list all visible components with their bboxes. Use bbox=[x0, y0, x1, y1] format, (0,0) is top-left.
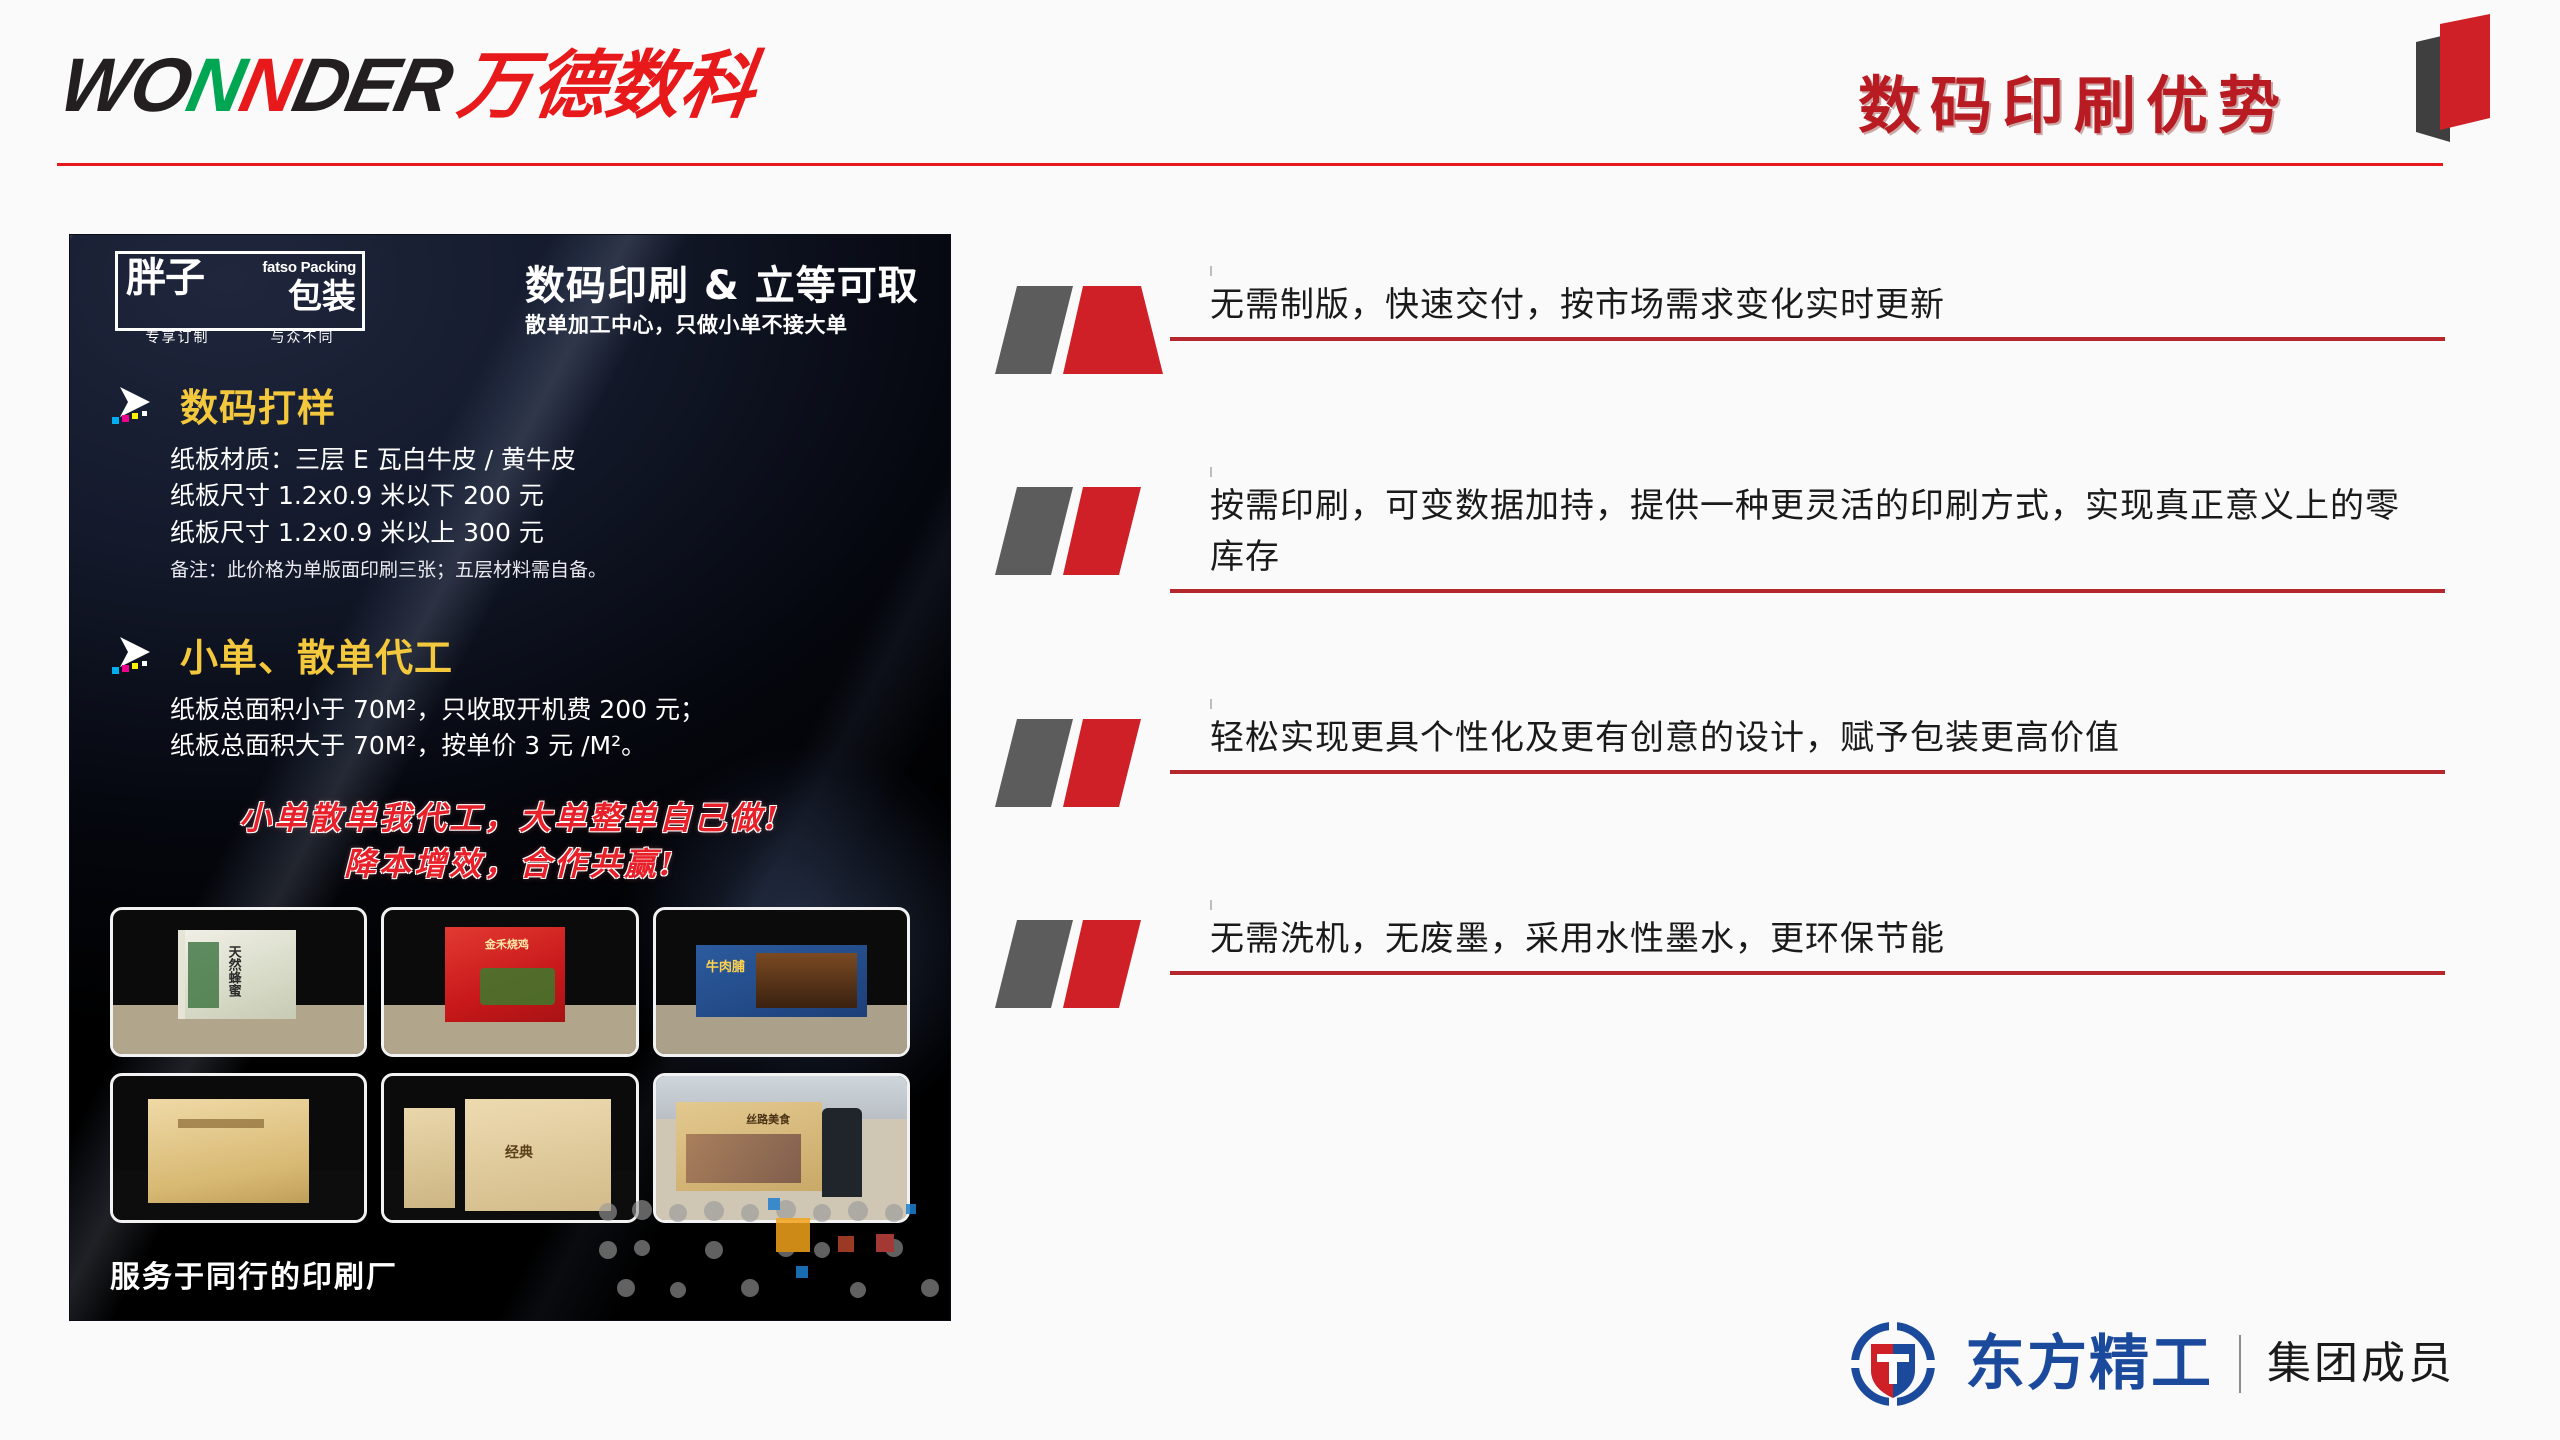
bullet-tick bbox=[1210, 900, 1212, 910]
wonder-wordmark: WONNDER bbox=[54, 48, 457, 124]
photo-box-side bbox=[404, 1108, 454, 1209]
poster-headline: 数码印刷 & 立等可取 bbox=[525, 253, 919, 311]
corporate-divider bbox=[2239, 1335, 2241, 1393]
header-divider bbox=[57, 163, 2443, 166]
fatso-packing-logo: 胖子 fatso Packing 包装 bbox=[115, 251, 365, 331]
photo-person bbox=[822, 1108, 862, 1197]
bullet-tick bbox=[1210, 699, 1212, 709]
photo-caption: 金禾烧鸡 bbox=[485, 936, 529, 952]
wonder-chinese-name: 万德数科 bbox=[454, 49, 760, 123]
double-chevron-marker-icon bbox=[995, 713, 1170, 813]
poster-subheadline: 散单加工中心，只做小单不接大单 bbox=[525, 309, 848, 339]
corporate-logo: 东方精工 集团成员 bbox=[1847, 1318, 2455, 1410]
section-2-lines: 纸板总面积小于 70M²，只收取开机费 200 元； 纸板总面积大于 70M²，… bbox=[170, 692, 910, 765]
bullet-underline bbox=[1170, 770, 2445, 774]
section-2-title-row: 小单、散单代工 bbox=[110, 627, 910, 682]
product-photo-grid: 天然蜂蜜 金禾烧鸡 牛肉脯 bbox=[110, 907, 910, 1223]
fatso-logo-en: fatso Packing bbox=[262, 259, 356, 276]
photo-box-art bbox=[686, 1134, 802, 1183]
photo-box-art bbox=[756, 953, 857, 1008]
section-1-line-2: 纸板尺寸 1.2x0.9 米以下 200 元 bbox=[170, 478, 910, 514]
dongfang-emblem-icon bbox=[1847, 1318, 1939, 1410]
wordmark-part-2: DER bbox=[286, 43, 459, 128]
advantages-list: 无需制版，快速交付，按市场需求变化实时更新 按需印刷，可变数据加持，提供一种更灵… bbox=[995, 280, 2445, 975]
bullet-underline bbox=[1170, 589, 2445, 593]
fatso-logo-cn-top: 胖子 bbox=[126, 258, 204, 298]
bullet-personalized-design: 轻松实现更具个性化及更有创意的设计，赋予包装更高价值 bbox=[995, 713, 2445, 774]
double-chevron-marker-icon bbox=[995, 914, 1170, 1014]
bullet-tick bbox=[1210, 266, 1212, 276]
slogan-line-2: 降本增效，合作共赢! bbox=[70, 841, 950, 887]
bullet-no-plate-making: 无需制版，快速交付，按市场需求变化实时更新 bbox=[995, 280, 2445, 341]
poster-slogan: 小单散单我代工，大单整单自己做! 降本增效，合作共赢! bbox=[70, 795, 950, 888]
fatso-logo-cn-bottom: 包装 bbox=[288, 280, 356, 314]
bullet-text: 无需洗机，无废墨，采用水性墨水，更环保节能 bbox=[1210, 914, 2445, 971]
bullet-text: 轻松实现更具个性化及更有创意的设计，赋予包装更高价值 bbox=[1210, 713, 2445, 770]
wordmark-part-1: WO bbox=[53, 43, 198, 128]
slogan-line-1: 小单散单我代工，大单整单自己做! bbox=[70, 795, 950, 841]
section-1-title: 数码打样 bbox=[180, 377, 336, 432]
wonder-logo: WONNDER 万德数科 bbox=[62, 48, 755, 124]
photo-box-art bbox=[178, 1119, 263, 1128]
bullet-eco-friendly: 无需洗机，无废墨，采用水性墨水，更环保节能 bbox=[995, 914, 2445, 975]
section-1-lines: 纸板材质：三层 E 瓦白牛皮 / 黄牛皮 纸板尺寸 1.2x0.9 米以下 20… bbox=[170, 442, 910, 582]
product-photo-braised-meat-box: 金禾烧鸡 bbox=[381, 907, 638, 1057]
slide-root: WONNDER 万德数科 数码印刷优势 胖子 fatso Packing 包装 … bbox=[0, 0, 2560, 1440]
section-1-line-1: 纸板材质：三层 E 瓦白牛皮 / 黄牛皮 bbox=[170, 442, 910, 478]
halftone-dots-decoration bbox=[590, 1190, 950, 1320]
tagline-right: 与众不同 bbox=[271, 327, 335, 347]
bullet-text: 无需制版，快速交付，按市场需求变化实时更新 bbox=[1210, 280, 2445, 337]
page-title: 数码印刷优势 bbox=[1858, 55, 2290, 145]
bullet-text: 按需印刷，可变数据加持，提供一种更灵活的印刷方式，实现真正意义上的零库存 bbox=[1210, 481, 2400, 589]
poster-section-digital-proofing: 数码打样 纸板材质：三层 E 瓦白牛皮 / 黄牛皮 纸板尺寸 1.2x0.9 米… bbox=[110, 377, 910, 582]
tagline-left: 专享订制 bbox=[146, 327, 210, 347]
photo-caption: 牛肉脯 bbox=[706, 956, 745, 975]
bullet-tick bbox=[1210, 467, 1212, 477]
photo-box-art bbox=[480, 968, 555, 1005]
corporate-member-label: 集团成员 bbox=[2267, 1342, 2455, 1386]
photo-caption: 经典 bbox=[505, 1142, 533, 1162]
bullet-underline bbox=[1170, 971, 2445, 975]
bullet-on-demand-printing: 按需印刷，可变数据加持，提供一种更灵活的印刷方式，实现真正意义上的零库存 bbox=[995, 481, 2445, 593]
section-2-title: 小单、散单代工 bbox=[180, 627, 453, 682]
section-1-line-3: 纸板尺寸 1.2x0.9 米以上 300 元 bbox=[170, 515, 910, 551]
poster-section-small-order-oem: 小单、散单代工 纸板总面积小于 70M²，只收取开机费 200 元； 纸板总面积… bbox=[110, 627, 910, 765]
section-1-note: 备注：此价格为单版面印刷三张；五层材料需自备。 bbox=[170, 555, 910, 582]
product-photo-kraft-carton bbox=[110, 1073, 367, 1223]
corporate-name: 东方精工 bbox=[1965, 1334, 2213, 1394]
promo-poster: 胖子 fatso Packing 包装 专享订制 与众不同 数码印刷 & 立等可… bbox=[70, 235, 950, 1320]
photo-box bbox=[148, 1099, 309, 1203]
section-2-line-1: 纸板总面积小于 70M²，只收取开机费 200 元； bbox=[170, 692, 910, 728]
section-1-title-row: 数码打样 bbox=[110, 377, 910, 432]
section-2-line-2: 纸板总面积大于 70M²，按单价 3 元 /M²。 bbox=[170, 728, 910, 764]
photo-caption: 天然蜂蜜 bbox=[224, 945, 243, 997]
poster-footer-text: 服务于同行的印刷厂 bbox=[110, 1252, 398, 1296]
product-photo-beef-carton: 牛肉脯 bbox=[653, 907, 910, 1057]
photo-box bbox=[465, 1099, 611, 1211]
bullet-underline bbox=[1170, 337, 2445, 341]
double-chevron-marker-icon bbox=[995, 481, 1170, 581]
arrow-cmyk-icon bbox=[110, 633, 166, 677]
poster-header: 胖子 fatso Packing 包装 专享订制 与众不同 数码印刷 & 立等可… bbox=[70, 235, 950, 345]
product-photo-honey-gift-box: 天然蜂蜜 bbox=[110, 907, 367, 1057]
arrow-cmyk-icon bbox=[110, 383, 166, 427]
fatso-logo-taglines: 专享订制 与众不同 bbox=[115, 327, 365, 347]
photo-box-art bbox=[188, 942, 218, 1008]
double-chevron-marker-icon bbox=[995, 280, 1170, 380]
photo-caption: 丝路美食 bbox=[746, 1111, 790, 1127]
corner-bookmark-icon bbox=[2390, 10, 2500, 150]
